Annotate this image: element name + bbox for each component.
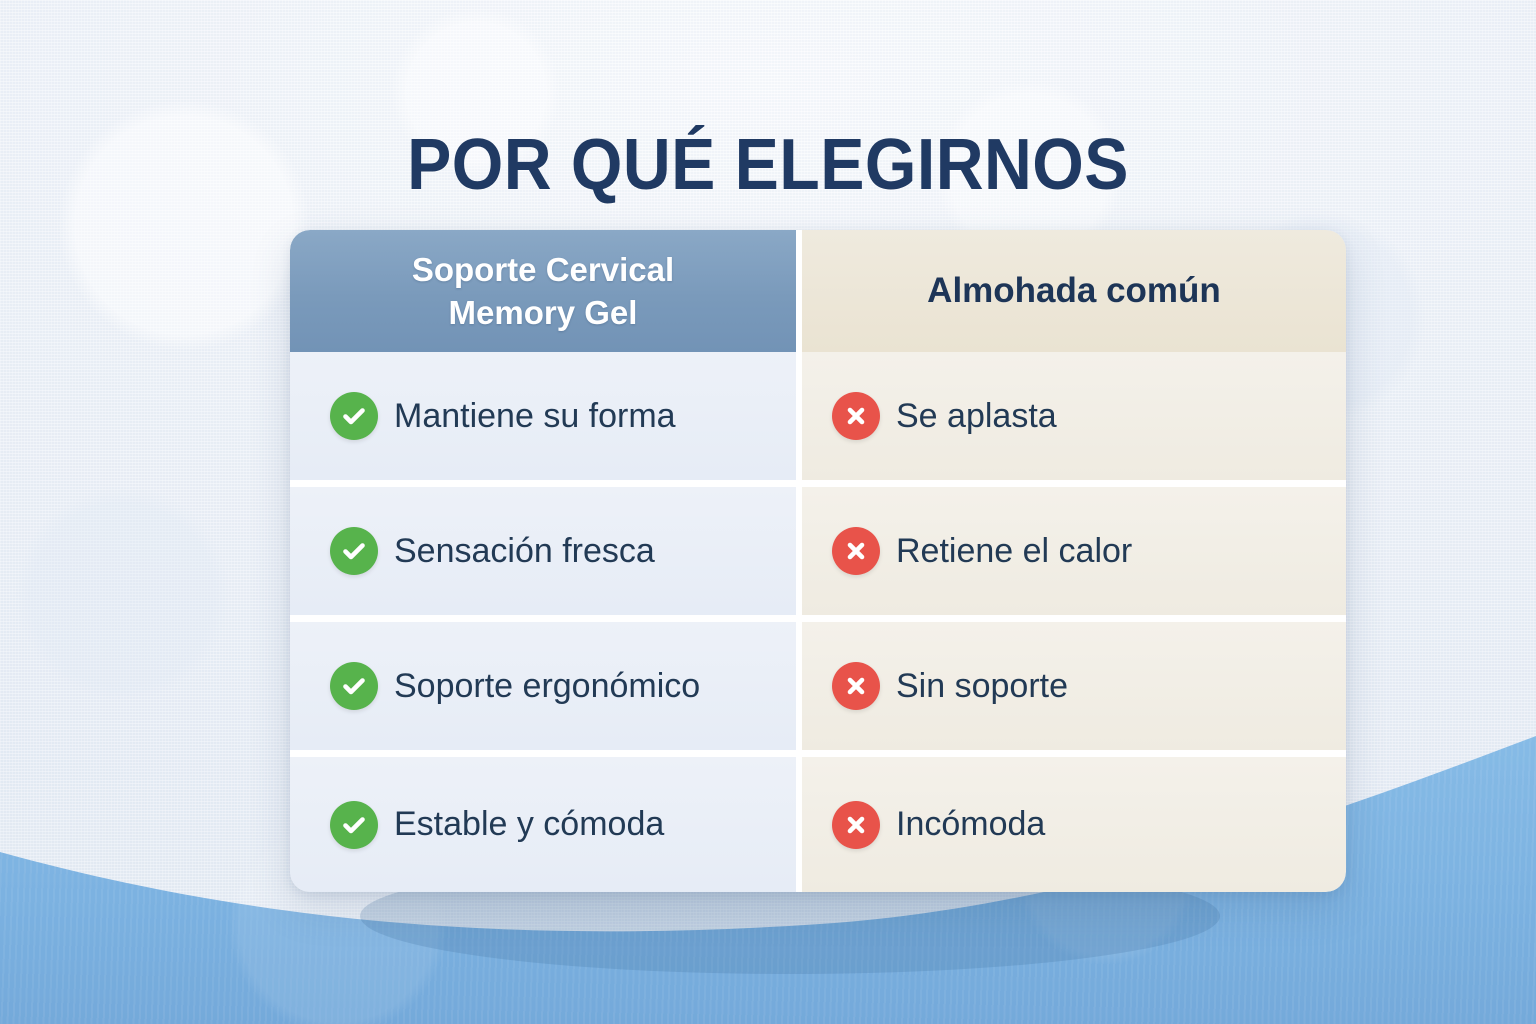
cross-circle-icon (832, 392, 880, 440)
column-header-product-line1: Soporte Cervical (412, 251, 674, 288)
check-circle-icon (330, 527, 378, 575)
column-header-generic: Almohada común (802, 230, 1346, 352)
table-row: Se aplasta (802, 352, 1346, 487)
check-circle-icon (330, 801, 378, 849)
row-label-generic: Sin soporte (896, 667, 1068, 706)
table-row: Sin soporte (802, 622, 1346, 757)
row-label-product: Estable y cómoda (394, 805, 664, 844)
table-row: Soporte ergonómico (290, 622, 796, 757)
table-row: Retiene el calor (802, 487, 1346, 622)
row-label-product: Sensación fresca (394, 532, 655, 571)
row-label-generic: Retiene el calor (896, 532, 1132, 571)
table-row: Mantiene su forma (290, 352, 796, 487)
row-label-product: Soporte ergonómico (394, 667, 700, 706)
row-label-product: Mantiene su forma (394, 397, 676, 436)
row-label-generic: Incómoda (896, 805, 1045, 844)
table-row: Estable y cómoda (290, 757, 796, 892)
cross-circle-icon (832, 801, 880, 849)
column-generic: Almohada común Se aplasta Retiene el cal… (802, 230, 1346, 892)
check-circle-icon (330, 662, 378, 710)
table-row: Incómoda (802, 757, 1346, 892)
comparison-table: Soporte Cervical Memory Gel Mantiene su … (290, 230, 1346, 892)
column-header-product-line2: Memory Gel (449, 294, 638, 331)
column-header-product: Soporte Cervical Memory Gel (290, 230, 796, 352)
cross-circle-icon (832, 527, 880, 575)
check-circle-icon (330, 392, 378, 440)
cross-circle-icon (832, 662, 880, 710)
table-row: Sensación fresca (290, 487, 796, 622)
column-product: Soporte Cervical Memory Gel Mantiene su … (290, 230, 802, 892)
row-label-generic: Se aplasta (896, 397, 1057, 436)
page-title: POR QUÉ ELEGIRNOS (61, 122, 1474, 208)
